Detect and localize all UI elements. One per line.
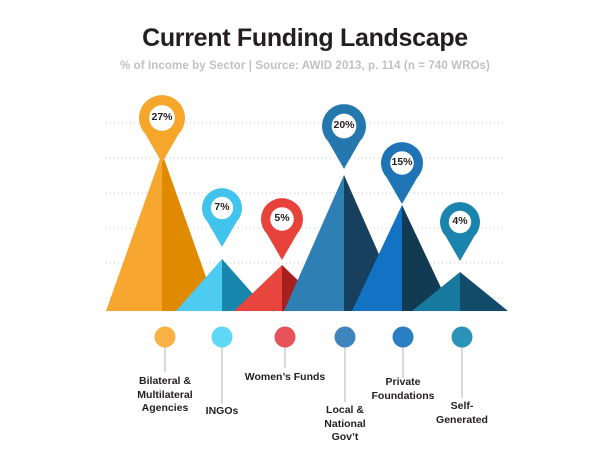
pin-hole (149, 105, 175, 131)
legend-dot-icon[interactable] (335, 327, 356, 348)
pin-hole (332, 114, 357, 139)
mountain-face-dark (460, 272, 508, 311)
legend-dot-icon[interactable] (212, 327, 233, 348)
legend-dot-icon[interactable] (155, 327, 176, 348)
pin-hole (449, 211, 471, 233)
legend-item-label[interactable]: Women’s Funds (230, 371, 340, 385)
legend-dot-icon[interactable] (275, 327, 296, 348)
mountain-face-light (284, 175, 344, 311)
legend-item-label[interactable]: Local & National Gov’t (308, 404, 382, 445)
mountain-chart (0, 0, 610, 470)
value-pin-4 (322, 104, 366, 169)
funding-landscape-infographic: Current Funding Landscape % of Income by… (0, 0, 610, 470)
mountain-face-light (106, 153, 162, 311)
value-pin-1 (139, 95, 185, 163)
legend-dot-icon[interactable] (452, 327, 473, 348)
legend-item-label[interactable]: INGOs (192, 405, 252, 419)
pin-hole (211, 197, 233, 219)
legend-item-label[interactable]: Private Foundations (355, 376, 451, 403)
legend-dot-icon[interactable] (393, 327, 414, 348)
value-pin-2 (202, 188, 242, 247)
legend-item-label[interactable]: Self- Generated (419, 400, 505, 427)
value-pin-5 (381, 142, 423, 204)
value-pin-6 (440, 202, 480, 261)
value-pin-3 (261, 198, 303, 260)
pin-hole (390, 151, 414, 175)
pin-hole (270, 207, 294, 231)
